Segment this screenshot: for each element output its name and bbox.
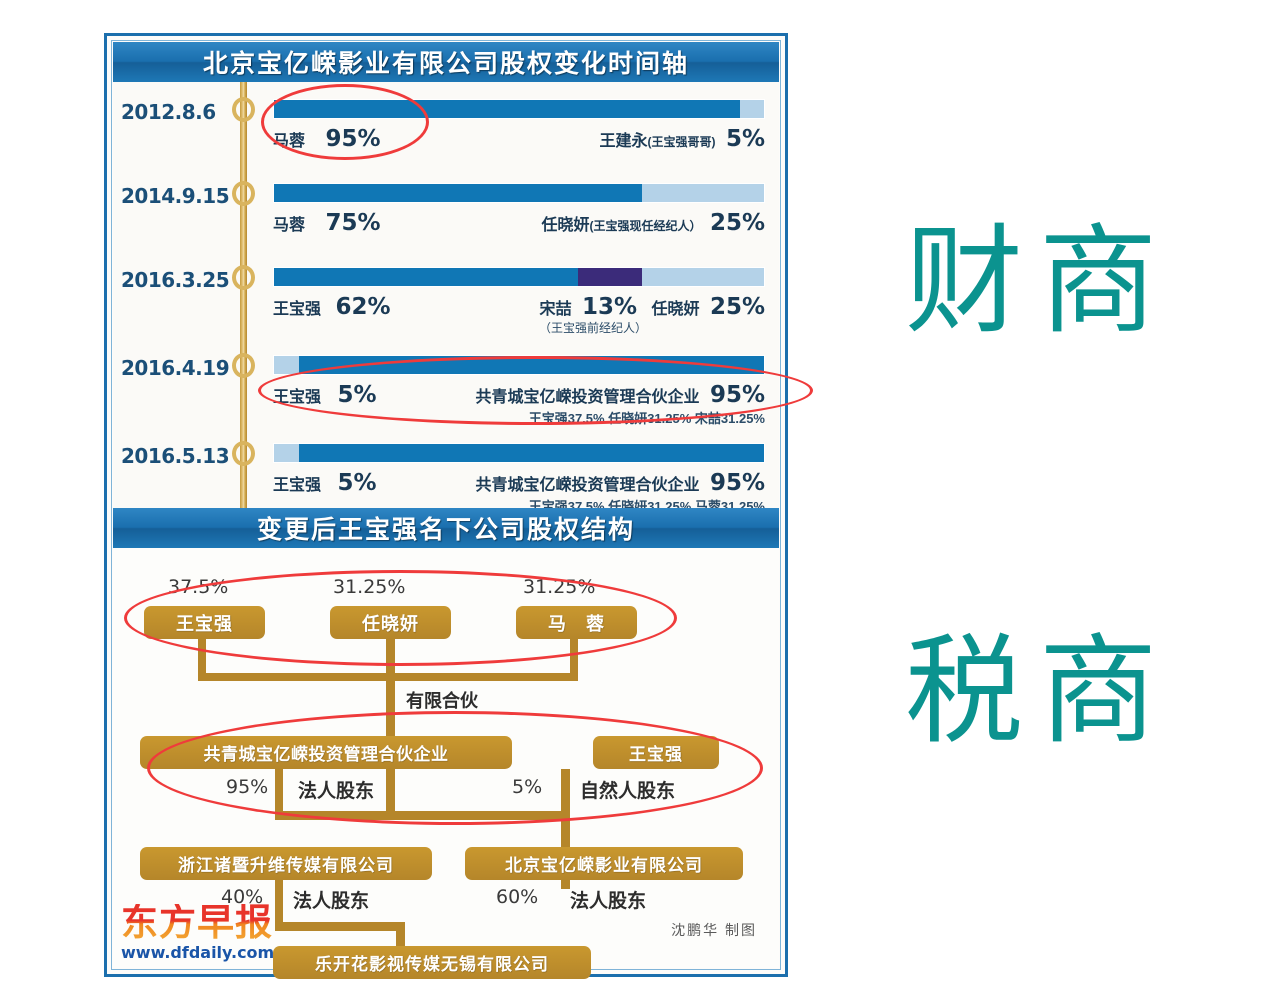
entity-box-wangbaoqiang: 王宝强 bbox=[593, 736, 719, 769]
shareholder-pct: 75% bbox=[325, 210, 380, 236]
side-word-caishang: 财商 bbox=[905, 185, 1173, 356]
shareholder-pct-mid: 13% bbox=[582, 294, 637, 320]
bar-segment bbox=[642, 268, 765, 286]
shareholder-name-mid: 宋喆 bbox=[539, 301, 571, 318]
logo-chinese-name: 东方早报 bbox=[121, 904, 296, 941]
timeline-row: 2014.9.15 马蓉 75% 任晓妍(王宝强现任经纪人） 25% bbox=[113, 172, 779, 256]
bar-segment bbox=[274, 444, 299, 462]
bar-segment bbox=[274, 356, 299, 374]
bar-labels: 马蓉 75% 任晓妍(王宝强现任经纪人） 25% bbox=[273, 208, 765, 254]
equity-change-timeline: 2012.8.6 马蓉 95% 王建永(王宝强哥哥) 5% 2014.9.15 bbox=[113, 82, 779, 508]
timeline-date: 2016.4.19 bbox=[121, 356, 233, 380]
shareholder-name: 王宝强 bbox=[273, 389, 321, 406]
shareholder-name: 任晓妍 bbox=[541, 217, 589, 234]
owner-pct: 37.5% bbox=[168, 576, 228, 598]
shareholder-pct: 95% bbox=[710, 382, 765, 408]
shareholder-pct: 25% bbox=[710, 294, 765, 320]
entity-box-lekaihua: 乐开花影视传媒无锡有限公司 bbox=[273, 946, 591, 979]
shareholder-pct: 5% bbox=[726, 126, 765, 152]
stake-pct: 95% bbox=[226, 776, 268, 798]
timeline-row: 2016.3.25 王宝强 62% 宋喆 13% 任晓妍 25% （王宝强前经纪… bbox=[113, 256, 779, 340]
dfdaily-logo: 东方早报 www.dfdaily.com bbox=[121, 904, 296, 962]
connector bbox=[275, 811, 570, 820]
timeline-date: 2016.3.25 bbox=[121, 268, 233, 292]
partnership-label: 有限合伙 bbox=[406, 687, 478, 713]
entity-name: 乐开花影视传媒无锡有限公司 bbox=[315, 950, 549, 975]
owner-box-renxiaoyan: 任晓妍 bbox=[330, 606, 451, 639]
bar-segment bbox=[274, 268, 578, 286]
shareholder-name: 马蓉 bbox=[273, 133, 305, 150]
bar-labels: 王宝强 5% 共青城宝亿嵘投资管理合伙企业 95% 王宝强37.5% 任晓妍31… bbox=[273, 380, 765, 426]
bar-segment bbox=[274, 100, 740, 118]
bar-segment bbox=[274, 184, 642, 202]
ownership-breakdown: 王宝强37.5% 任晓妍31.25% 宋喆31.25% bbox=[529, 408, 765, 427]
stake-pct: 60% bbox=[496, 886, 538, 908]
orgchart-section-title: 变更后王宝强名下公司股权结构 bbox=[257, 510, 635, 546]
bar-label-left: 马蓉 95% bbox=[273, 126, 381, 152]
bar-label-right: 任晓妍(王宝强现任经纪人） 25% bbox=[541, 210, 765, 236]
timeline-row: 2016.5.13 王宝强 5% 共青城宝亿嵘投资管理合伙企业 95% 王宝强3… bbox=[113, 432, 779, 516]
owner-box-wangbaoqiang: 王宝强 bbox=[144, 606, 265, 639]
owner-name: 马 蓉 bbox=[548, 610, 605, 636]
shareholder-pct: 95% bbox=[710, 470, 765, 496]
stacked-bar bbox=[273, 355, 765, 375]
stake-role: 法人股东 bbox=[293, 886, 369, 913]
bar-label-right: 宋喆 13% 任晓妍 25% bbox=[539, 294, 765, 320]
timeline-row: 2012.8.6 马蓉 95% 王建永(王宝强哥哥) 5% bbox=[113, 88, 779, 172]
owner-box-marong: 马 蓉 bbox=[516, 606, 637, 639]
owner-name: 王宝强 bbox=[176, 610, 233, 636]
shareholder-name: 王宝强 bbox=[273, 301, 321, 318]
bar-label-left: 王宝强 5% bbox=[273, 470, 377, 496]
bar-label-right: 共青城宝亿嵘投资管理合伙企业 95% bbox=[475, 382, 765, 408]
shareholder-name: 共青城宝亿嵘投资管理合伙企业 bbox=[475, 477, 699, 494]
shareholder-pct: 5% bbox=[337, 470, 376, 496]
timeline-node-icon bbox=[232, 265, 255, 290]
shareholder-note-mid: （王宝强前经纪人） bbox=[539, 319, 647, 336]
shareholder-name: 王宝强 bbox=[273, 477, 321, 494]
stake-role: 法人股东 bbox=[298, 776, 374, 803]
infographic-panel: 北京宝亿嵘影业有限公司股权变化时间轴 2012.8.6 马蓉 95% 王建永(王… bbox=[104, 33, 788, 977]
timeline-date: 2016.5.13 bbox=[121, 444, 233, 468]
bar-segment bbox=[578, 268, 642, 286]
bar-segment bbox=[299, 444, 765, 462]
timeline-date: 2014.9.15 bbox=[121, 184, 233, 208]
shareholder-pct: 5% bbox=[337, 382, 376, 408]
owner-pct: 31.25% bbox=[333, 576, 405, 598]
owner-name: 任晓妍 bbox=[362, 610, 419, 636]
timeline-section-header: 北京宝亿嵘影业有限公司股权变化时间轴 bbox=[113, 42, 779, 82]
shareholder-note: (王宝强哥哥) bbox=[647, 135, 715, 149]
bar-label-left: 王宝强 5% bbox=[273, 382, 377, 408]
entity-name: 北京宝亿嵘影业有限公司 bbox=[505, 851, 703, 876]
bar-label-right: 王建永(王宝强哥哥) 5% bbox=[599, 126, 765, 152]
stacked-bar bbox=[273, 267, 765, 287]
timeline-section-title: 北京宝亿嵘影业有限公司股权变化时间轴 bbox=[203, 44, 689, 80]
bar-label-left: 王宝强 62% bbox=[273, 294, 391, 320]
entity-name: 浙江诸暨升维传媒有限公司 bbox=[178, 851, 394, 876]
timeline-node-icon bbox=[232, 353, 255, 378]
stake-pct: 5% bbox=[512, 776, 542, 798]
entity-box-partnership: 共青城宝亿嵘投资管理合伙企业 bbox=[140, 736, 512, 769]
timeline-node-icon bbox=[232, 97, 255, 122]
shareholder-name: 王建永 bbox=[599, 133, 647, 150]
timeline-row: 2016.4.19 王宝强 5% 共青城宝亿嵘投资管理合伙企业 95% 王宝强3… bbox=[113, 344, 779, 428]
bar-labels: 王宝强 62% 宋喆 13% 任晓妍 25% （王宝强前经纪人） bbox=[273, 292, 765, 338]
bar-label-left: 马蓉 75% bbox=[273, 210, 381, 236]
chart-credit: 沈鹏华 制图 bbox=[671, 920, 757, 940]
stacked-bar bbox=[273, 443, 765, 463]
ownership-structure-diagram: 37.5% 31.25% 31.25% 王宝强 任晓妍 马 蓉 有限合伙 共青城… bbox=[113, 548, 779, 968]
side-word-shuishang: 税商 bbox=[905, 595, 1173, 766]
entity-name: 共青城宝亿嵘投资管理合伙企业 bbox=[204, 740, 449, 765]
stake-role: 法人股东 bbox=[570, 886, 646, 913]
stake-role: 自然人股东 bbox=[580, 776, 675, 803]
shareholder-name: 共青城宝亿嵘投资管理合伙企业 bbox=[475, 389, 699, 406]
bar-segment bbox=[740, 100, 765, 118]
timeline-node-icon bbox=[232, 441, 255, 466]
connector bbox=[386, 639, 395, 739]
entity-name: 王宝强 bbox=[629, 740, 683, 765]
shareholder-name: 任晓妍 bbox=[651, 301, 699, 318]
connector bbox=[386, 769, 395, 811]
bar-label-right: 共青城宝亿嵘投资管理合伙企业 95% bbox=[475, 470, 765, 496]
owner-pct: 31.25% bbox=[523, 576, 595, 598]
shareholder-note: (王宝强现任经纪人） bbox=[589, 219, 701, 233]
bar-segment bbox=[299, 356, 765, 374]
stacked-bar bbox=[273, 183, 765, 203]
entity-box-zhejiang: 浙江诸暨升维传媒有限公司 bbox=[140, 847, 432, 880]
bar-segment bbox=[642, 184, 765, 202]
stacked-bar bbox=[273, 99, 765, 119]
entity-box-beijing: 北京宝亿嵘影业有限公司 bbox=[465, 847, 743, 880]
logo-website-url: www.dfdaily.com bbox=[121, 943, 296, 962]
shareholder-pct: 62% bbox=[335, 294, 390, 320]
shareholder-name: 马蓉 bbox=[273, 217, 305, 234]
shareholder-pct: 25% bbox=[710, 210, 765, 236]
timeline-node-icon bbox=[232, 181, 255, 206]
shareholder-pct: 95% bbox=[325, 126, 380, 152]
bar-labels: 马蓉 95% 王建永(王宝强哥哥) 5% bbox=[273, 124, 765, 170]
timeline-date: 2012.8.6 bbox=[121, 100, 233, 124]
orgchart-section-header: 变更后王宝强名下公司股权结构 bbox=[113, 508, 779, 548]
